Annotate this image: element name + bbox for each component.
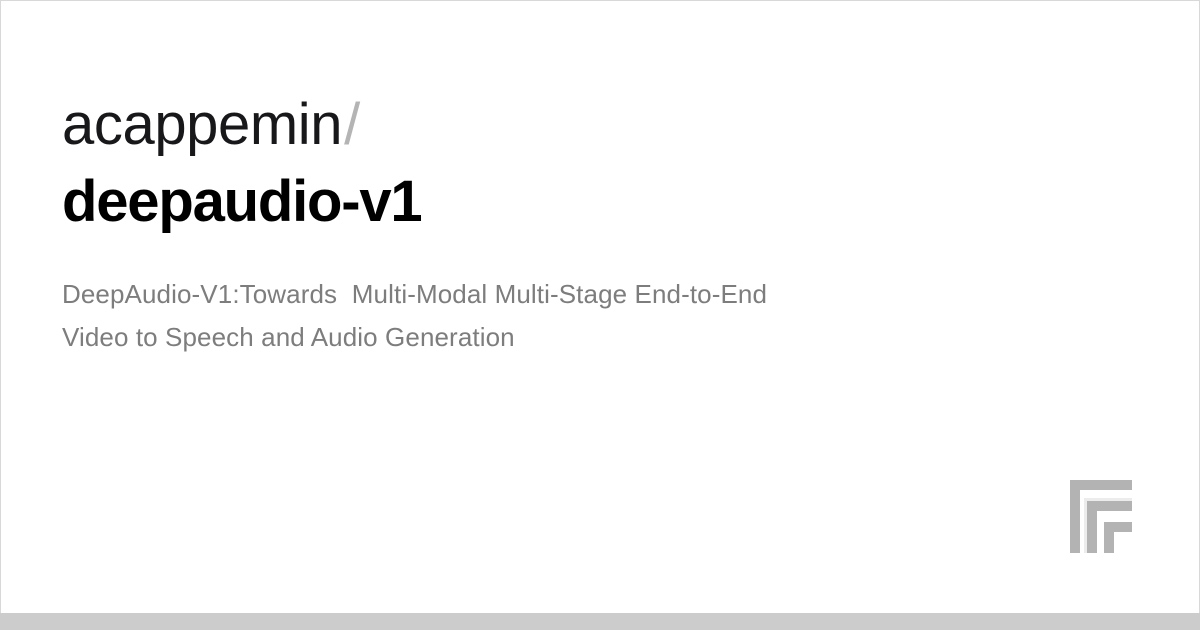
repository-social-preview-card: acappemin/ deepaudio-v1 DeepAudio-V1:Tow… <box>0 0 1200 630</box>
repository-description: DeepAudio-V1:Towards Multi-Modal Multi-S… <box>62 273 782 359</box>
repository-name[interactable]: deepaudio-v1 <box>62 173 862 231</box>
nested-corner-logo-icon <box>1070 480 1144 553</box>
owner-repo-separator: / <box>344 92 360 157</box>
repository-owner[interactable]: acappemin <box>62 92 342 157</box>
bottom-accent-bar <box>0 613 1200 630</box>
card-content: acappemin/ deepaudio-v1 DeepAudio-V1:Tow… <box>62 96 862 359</box>
repository-owner-line: acappemin/ <box>62 96 862 154</box>
